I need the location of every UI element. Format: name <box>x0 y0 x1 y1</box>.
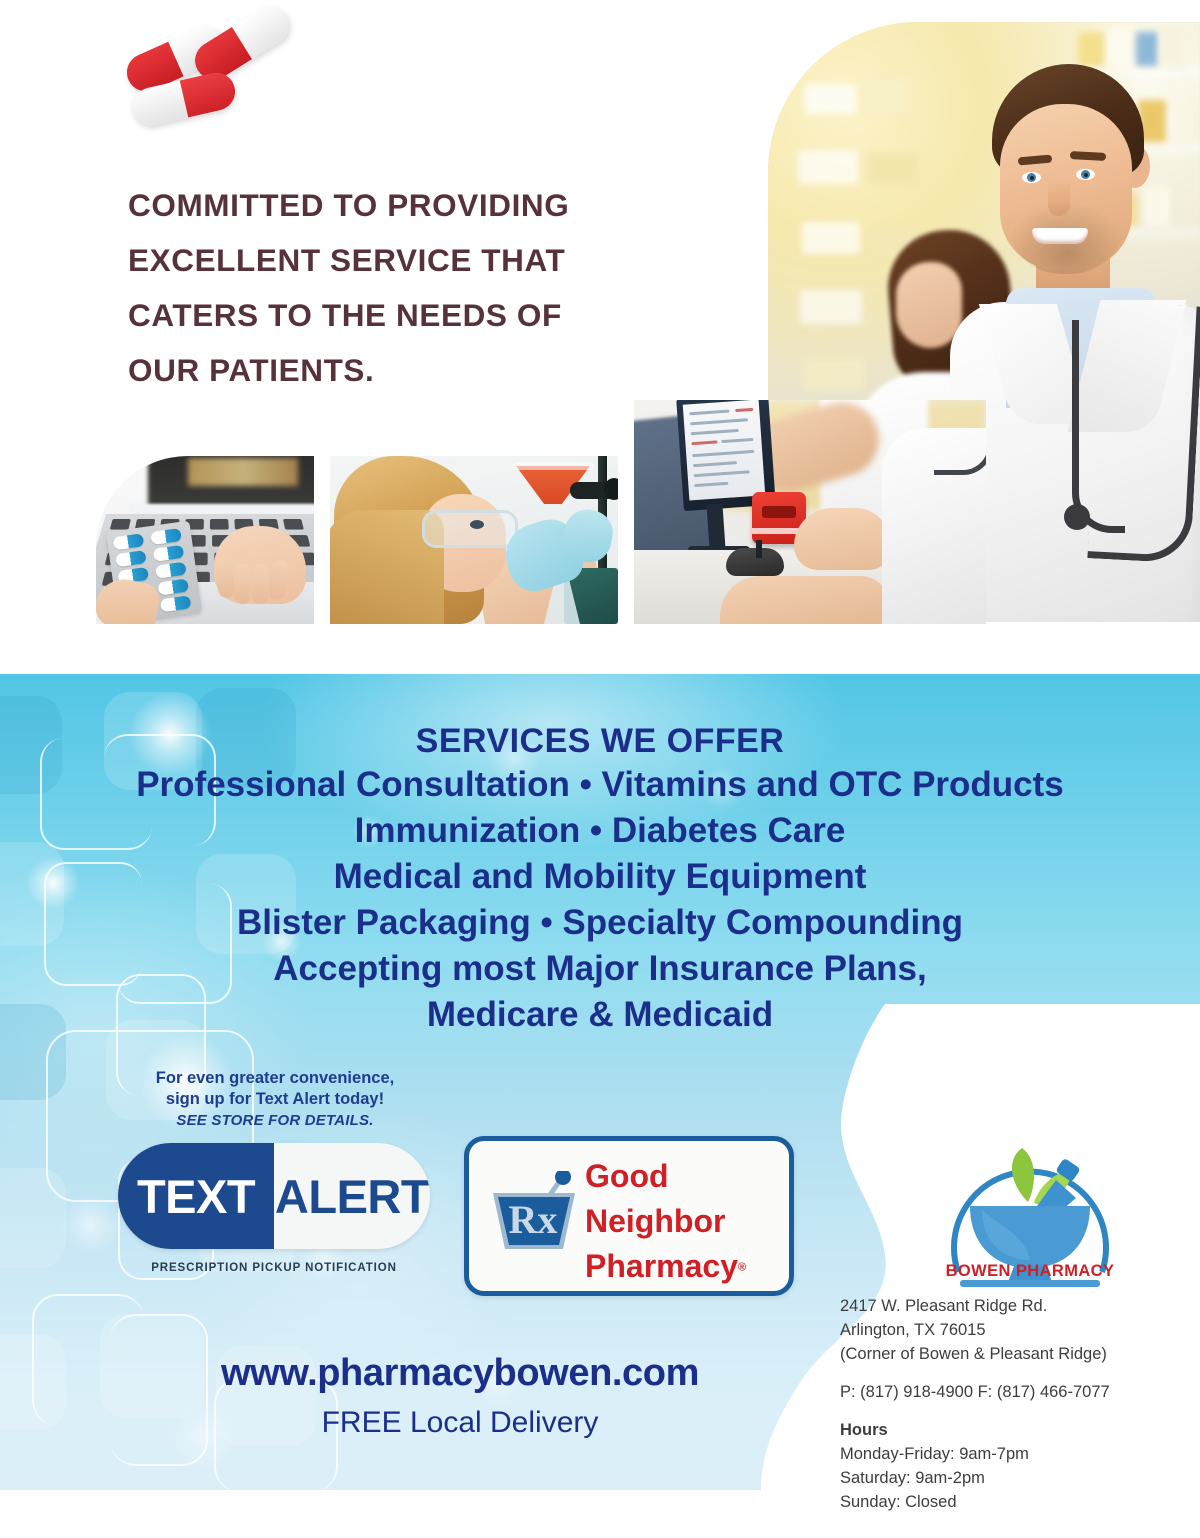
thumbnail-blister-laptop <box>96 456 314 624</box>
text-alert-caption-line-3: SEE STORE FOR DETAILS. <box>120 1110 430 1131</box>
headline-line-2: EXCELLENT SERVICE THAT <box>128 233 668 288</box>
text-alert-subcaption: PRESCRIPTION PICKUP NOTIFICATION <box>118 1262 430 1274</box>
gn-line-good: Good <box>585 1157 783 1202</box>
service-line-1: Professional Consultation • Vitamins and… <box>0 762 1200 808</box>
headline-line-3: CATERS TO THE NEEDS OF <box>128 288 668 343</box>
headline: COMMITTED TO PROVIDING EXCELLENT SERVICE… <box>128 178 668 398</box>
flyer-page: COMMITTED TO PROVIDING EXCELLENT SERVICE… <box>0 0 1200 1538</box>
hours-weekday: Monday-Friday: 9am-7pm <box>840 1442 1170 1466</box>
thumbnail-computer-stamp <box>634 400 986 624</box>
text-alert-caption-line-2: sign up for Text Alert today! <box>120 1089 430 1110</box>
gn-line-neighbor: Neighbor <box>585 1202 783 1247</box>
services-title: SERVICES WE OFFER <box>0 722 1200 761</box>
gn-good-text: Good <box>585 1158 669 1194</box>
text-alert-caption: For even greater convenience, sign up fo… <box>120 1068 430 1131</box>
phone-fax-line: P: (817) 918-4900 F: (817) 466-7077 <box>840 1380 1170 1404</box>
gn-neighbor-text: Neighbor <box>585 1203 725 1239</box>
good-neighbor-pharmacy-logo: Rx Good Neighbor Pharmacy® <box>464 1136 794 1296</box>
thumbnail-lab-scientist <box>330 456 618 624</box>
address-line-1: 2417 W. Pleasant Ridge Rd. <box>840 1294 1170 1318</box>
service-line-2: Immunization • Diabetes Care <box>0 808 1200 854</box>
services-list: Professional Consultation • Vitamins and… <box>0 762 1200 1038</box>
headline-line-1: COMMITTED TO PROVIDING <box>128 178 668 233</box>
text-alert-caption-line-1: For even greater convenience, <box>120 1068 430 1089</box>
hours-heading: Hours <box>840 1418 1170 1442</box>
address-line-2: Arlington, TX 76015 <box>840 1318 1170 1342</box>
hours-sunday: Sunday: Closed <box>840 1490 1170 1514</box>
address-line-3: (Corner of Bowen & Pleasant Ridge) <box>840 1342 1170 1366</box>
gn-line-pharmacy: Pharmacy® <box>585 1247 783 1292</box>
text-alert-word-alert: ALERT <box>274 1143 430 1249</box>
service-line-4: Blister Packaging • Specialty Compoundin… <box>0 900 1200 946</box>
headline-line-4: OUR PATIENTS. <box>128 343 668 398</box>
service-line-6: Medicare & Medicaid <box>0 992 1200 1038</box>
hours-saturday: Saturday: 9am-2pm <box>840 1466 1170 1490</box>
red-white-capsules-image <box>118 22 293 142</box>
svg-text:Rx: Rx <box>509 1197 558 1242</box>
service-line-5: Accepting most Major Insurance Plans, <box>0 946 1200 992</box>
mortar-pestle-rx-icon: Rx <box>491 1171 577 1251</box>
good-neighbor-wordmark: Good Neighbor Pharmacy® <box>585 1157 783 1292</box>
text-alert-word-text: TEXT <box>118 1143 274 1249</box>
top-white-section: COMMITTED TO PROVIDING EXCELLENT SERVICE… <box>0 0 1200 674</box>
gn-pharmacy-text: Pharmacy <box>585 1248 738 1284</box>
free-delivery-text: FREE Local Delivery <box>120 1406 800 1440</box>
service-line-3: Medical and Mobility Equipment <box>0 854 1200 900</box>
gn-registered-mark: ® <box>738 1262 746 1274</box>
text-alert-logo: TEXT ALERT <box>118 1143 430 1249</box>
bowen-pharmacy-name: BOWEN PHARMACY <box>910 1262 1150 1281</box>
contact-block: 2417 W. Pleasant Ridge Rd. Arlington, TX… <box>840 1294 1170 1514</box>
website-url[interactable]: www.pharmacybowen.com <box>120 1352 800 1395</box>
